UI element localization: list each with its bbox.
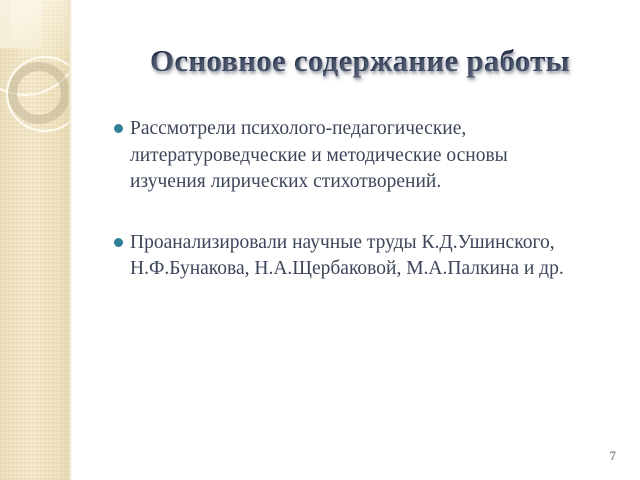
slide-body: Рассмотрели психолого-педагогические, ли… (112, 116, 582, 283)
page-number: 7 (610, 448, 617, 464)
bullet-item: Рассмотрели психолого-педагогические, ли… (112, 116, 582, 196)
small-arc-icon (6, 56, 72, 132)
bullet-dot-icon (114, 124, 123, 133)
slide-canvas: Основное содержание работы Рассмотрели п… (0, 0, 640, 480)
bullet-item: Проанализировали научные труды К.Д.Ушинс… (112, 230, 582, 283)
bullet-text: Проанализировали научные труды К.Д.Ушинс… (130, 230, 582, 283)
bullet-text: Рассмотрели психолого-педагогические, ли… (130, 116, 582, 196)
bullet-dot-icon (114, 238, 123, 247)
decorative-side-band (0, 0, 72, 480)
slide-title: Основное содержание работы (110, 44, 610, 78)
band-edge-divider (68, 0, 72, 480)
